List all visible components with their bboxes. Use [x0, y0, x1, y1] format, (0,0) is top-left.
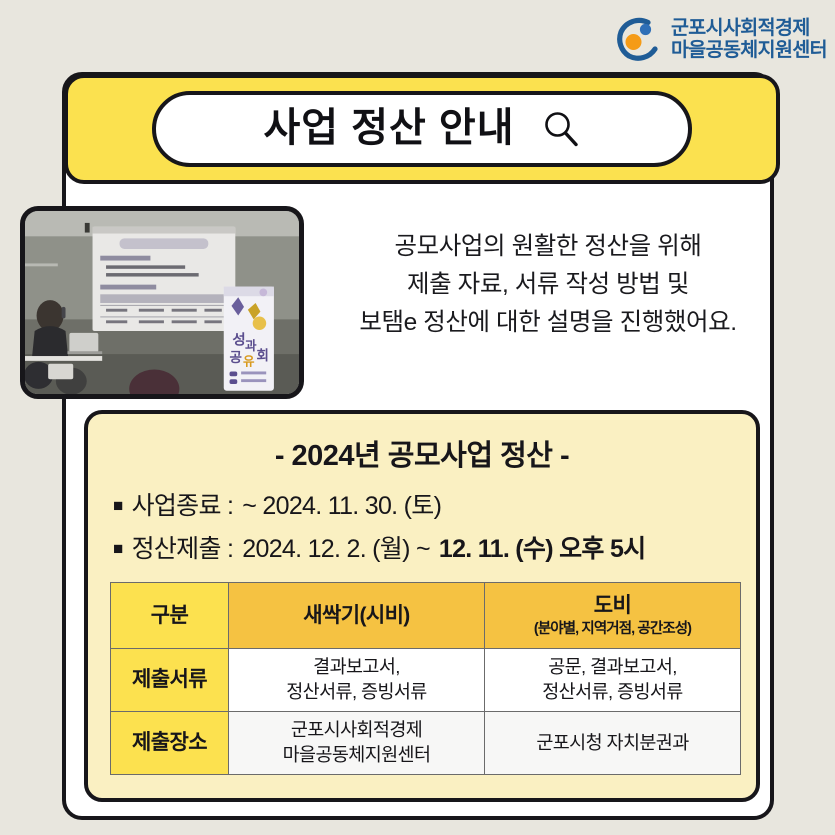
page-title: 사업 정산 안내 — [263, 108, 514, 148]
table-cell-location-dobi: 군포시청 자치분권과 — [485, 712, 741, 775]
table-header-dobi: 도비 (분야별, 지역거점, 공간조성) — [485, 583, 741, 649]
svg-text:공: 공 — [230, 350, 242, 366]
cell-line: 정산서류, 증빙서류 — [485, 680, 740, 705]
table-cell-documents-saessakgi: 결과보고서, 정산서류, 증빙서류 — [229, 649, 485, 712]
cell-line: 군포시청 자치분권과 — [485, 731, 740, 756]
bullet-marker-icon: ■ — [113, 497, 123, 514]
table-row: 제출장소 군포시사회적경제 마을공동체지원센터 군포시청 자치분권과 — [111, 712, 741, 775]
table-rowhead-location: 제출장소 — [111, 712, 229, 775]
table-header-saessakgi: 새싹기(시비) — [229, 583, 485, 649]
main-card: 사업 정산 안내 — [62, 72, 774, 820]
brand-logo: 군포시사회적경제 마을공동체지원센터 — [612, 14, 827, 64]
description-line-1: 공모사업의 원활한 정산을 위해 — [328, 228, 768, 266]
cell-line: 정산서류, 증빙서류 — [229, 680, 484, 705]
bullet-label-submit-date: 정산제출 : — [132, 529, 234, 565]
circle-dot-logo-icon — [612, 14, 662, 64]
brand-line-1: 군포시사회적경제 — [671, 17, 827, 39]
event-photo-image: 성 과 공 유 회 — [25, 211, 299, 394]
table-cell-documents-dobi: 공문, 결과보고서, 정산서류, 증빙서류 — [485, 649, 741, 712]
table-header-dobi-main: 도비 — [594, 594, 631, 617]
event-photo: 성 과 공 유 회 — [20, 206, 304, 399]
magnifier-icon — [541, 109, 581, 149]
cell-line: 마을공동체지원센터 — [229, 743, 484, 768]
brand-line-2: 마을공동체지원센터 — [671, 39, 827, 61]
bullet-item-submit-date: ■ 정산제출 : 2024. 12. 2. (월) ~ 12. 11. (수) … — [113, 529, 734, 565]
bullet-label-end-date: 사업종료 : — [132, 486, 234, 522]
bullet-marker-icon: ■ — [113, 540, 123, 557]
brand-name: 군포시사회적경제 마을공동체지원센터 — [671, 17, 827, 61]
table-header-category: 구분 — [111, 583, 229, 649]
title-pill: 사업 정산 안내 — [152, 91, 692, 167]
bullet-deadline-emphasis: 12. 11. (수) 오후 5시 — [439, 529, 646, 565]
header-band: 사업 정산 안내 — [64, 74, 780, 184]
settlement-table: 구분 새싹기(시비) 도비 (분야별, 지역거점, 공간조성) 제출서류 결과보… — [110, 582, 741, 775]
svg-text:회: 회 — [257, 348, 269, 364]
svg-text:유: 유 — [243, 354, 255, 369]
infobox-heading: - 2024년 공모사업 정산 - — [110, 432, 734, 474]
description-line-2: 제출 자료, 서류 작성 방법 및 — [328, 266, 768, 304]
svg-text:과: 과 — [245, 338, 257, 353]
cell-line: 공문, 결과보고서, — [485, 655, 740, 680]
table-row: 제출서류 결과보고서, 정산서류, 증빙서류 공문, 결과보고서, 정산서류, … — [111, 649, 741, 712]
bullet-item-end-date: ■ 사업종료 : ~ 2024. 11. 30. (토) — [113, 486, 734, 522]
description-block: 공모사업의 원활한 정산을 위해 제출 자료, 서류 작성 방법 및 보탬e 정… — [328, 228, 768, 342]
cell-line: 결과보고서, — [229, 655, 484, 680]
description-line-3: 보탬e 정산에 대한 설명을 진행했어요. — [328, 304, 768, 342]
table-header-row: 구분 새싹기(시비) 도비 (분야별, 지역거점, 공간조성) — [111, 583, 741, 649]
table-cell-location-saessakgi: 군포시사회적경제 마을공동체지원센터 — [229, 712, 485, 775]
bullet-value-submit-date: 2024. 12. 2. (월) ~ — [242, 529, 430, 565]
table-header-dobi-sub: (분야별, 지역거점, 공간조성) — [485, 620, 740, 639]
bullet-value-end-date: ~ 2024. 11. 30. (토) — [242, 486, 441, 522]
table-rowhead-documents: 제출서류 — [111, 649, 229, 712]
svg-text:성: 성 — [232, 330, 245, 348]
cell-line: 군포시사회적경제 — [229, 718, 484, 743]
settlement-info-box: - 2024년 공모사업 정산 - ■ 사업종료 : ~ 2024. 11. 3… — [84, 410, 760, 802]
